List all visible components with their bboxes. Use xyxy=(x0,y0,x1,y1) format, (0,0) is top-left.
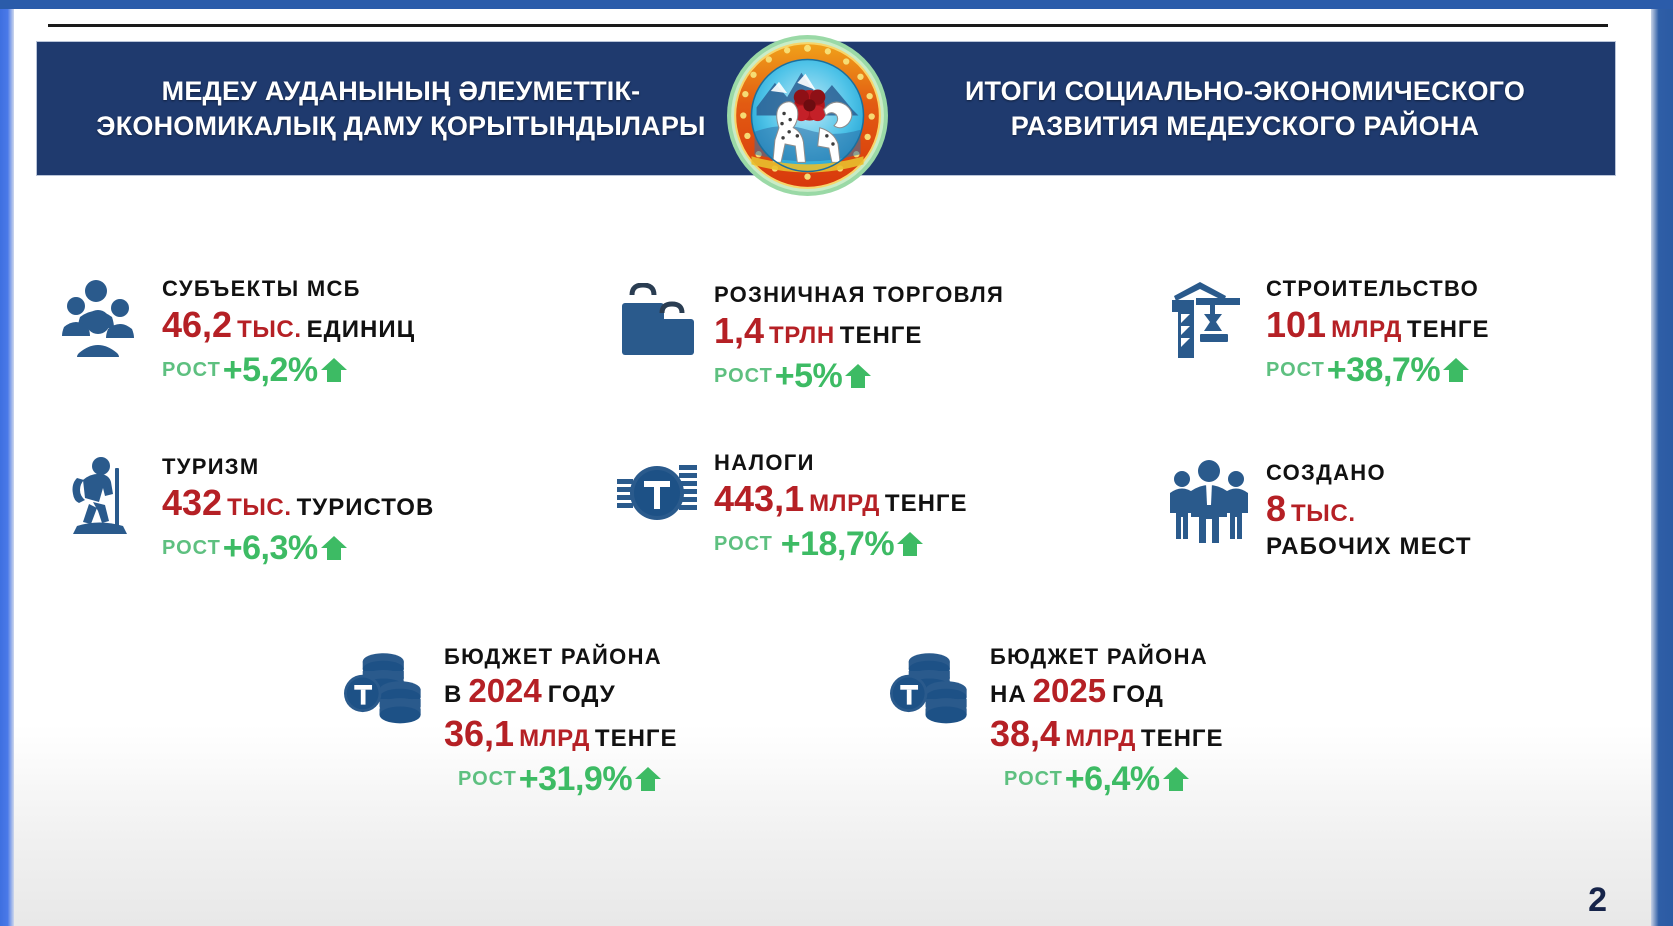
stat-body: ТУРИЗМ 432ТЫС.ТУРИСТОВ РОСТ+6,3% xyxy=(162,452,434,568)
growth-value: +6,3% xyxy=(223,529,318,568)
budget-year-line: НА2025ГОД xyxy=(990,673,1224,710)
stat-tail: ТЕНГЕ xyxy=(1141,725,1224,752)
stat-number: 432 xyxy=(162,482,222,523)
stat-number: 443,1 xyxy=(714,478,804,519)
shopping-bags-icon xyxy=(614,280,700,366)
growth-value: +5,2% xyxy=(223,351,318,390)
stat-number: 8 xyxy=(1266,488,1286,529)
stat-value: 101МЛРДТЕНГЕ xyxy=(1266,305,1490,345)
stat-body: РОЗНИЧНАЯ ТОРГОВЛЯ 1,4ТРЛНТЕНГЕ РОСТ+5% xyxy=(714,280,1004,396)
tenge-coins-icon xyxy=(614,448,700,534)
stat-card-budget-2025: БЮДЖЕТ РАЙОНА НА2025ГОД 38,4МЛРДТЕНГЕ РО… xyxy=(890,642,1224,799)
growth-value: +18,7% xyxy=(781,525,894,564)
stat-unit: МЛРД xyxy=(809,490,880,517)
stat-label: БЮДЖЕТ РАЙОНА xyxy=(444,644,678,669)
stat-body: БЮДЖЕТ РАЙОНА НА2025ГОД 38,4МЛРДТЕНГЕ РО… xyxy=(990,642,1224,799)
stat-card-tourism: ТУРИЗМ 432ТЫС.ТУРИСТОВ РОСТ+6,3% xyxy=(62,452,434,568)
stat-growth: РОСТ+6,3% xyxy=(162,529,434,568)
tenge-coin-stacks-icon xyxy=(344,642,430,728)
stat-value: 443,1МЛРДТЕНГЕ xyxy=(714,479,968,519)
stat-unit: МЛРД xyxy=(1065,725,1136,752)
stat-number: 101 xyxy=(1266,304,1326,345)
stat-number: 38,4 xyxy=(990,713,1060,754)
budget-year: 2024 xyxy=(468,672,541,709)
stat-label: РОЗНИЧНАЯ ТОРГОВЛЯ xyxy=(714,282,1004,307)
header-title-kazakh: МЕДЕУ АУДАНЫНЫҢ ӘЛЕУМЕТТІК- ЭКОНОМИКАЛЫҚ… xyxy=(51,73,751,143)
header-title-russian: ИТОГИ СОЦИАЛЬНО-ЭКОНОМИЧЕСКОГО РАЗВИТИЯ … xyxy=(895,73,1595,143)
growth-value: +38,7% xyxy=(1327,351,1440,390)
stat-value: 38,4МЛРДТЕНГЕ xyxy=(990,714,1224,754)
stat-body: БЮДЖЕТ РАЙОНА В2024ГОДУ 36,1МЛРДТЕНГЕ РО… xyxy=(444,642,678,799)
growth-label: РОСТ xyxy=(1266,359,1325,382)
stat-body: НАЛОГИ 443,1МЛРДТЕНГЕ РОСТ+18,7% xyxy=(714,448,968,564)
stat-label: СУБЪЕКТЫ МСБ xyxy=(162,276,415,301)
stat-tail: ТУРИСТОВ xyxy=(297,494,435,521)
slide-border-left xyxy=(0,9,14,926)
stat-label: ТУРИЗМ xyxy=(162,454,434,479)
stat-card-jobs: СОЗДАНО 8ТЫС. РАБОЧИХ МЕСТ xyxy=(1166,458,1472,561)
stat-card-budget-2024: БЮДЖЕТ РАЙОНА В2024ГОДУ 36,1МЛРДТЕНГЕ РО… xyxy=(344,642,678,799)
workers-group-icon xyxy=(1166,458,1252,544)
stat-label: БЮДЖЕТ РАЙОНА xyxy=(990,644,1224,669)
slide-border-right xyxy=(1651,9,1673,926)
stat-body: СОЗДАНО 8ТЫС. РАБОЧИХ МЕСТ xyxy=(1266,458,1472,561)
budget-year-word: ГОД xyxy=(1112,681,1164,708)
stat-value: 36,1МЛРДТЕНГЕ xyxy=(444,714,678,754)
growth-label: РОСТ xyxy=(162,359,221,382)
stat-label: НАЛОГИ xyxy=(714,450,968,475)
budget-year-word: ГОДУ xyxy=(548,681,616,708)
stat-value: 46,2ТЫС.ЕДИНИЦ xyxy=(162,305,415,345)
arrow-up-icon xyxy=(319,533,349,563)
arrow-up-icon xyxy=(843,361,873,391)
stat-growth: РОСТ+18,7% xyxy=(714,525,968,564)
growth-value: +31,9% xyxy=(519,760,632,799)
arrow-up-icon xyxy=(895,529,925,559)
stat-value: 8ТЫС. xyxy=(1266,489,1472,529)
stat-unit: ТЫС. xyxy=(1291,500,1356,527)
arrow-up-icon xyxy=(1441,355,1471,385)
slide-canvas: МЕДЕУ АУДАНЫНЫҢ ӘЛЕУМЕТТІК- ЭКОНОМИКАЛЫҚ… xyxy=(14,12,1651,926)
budget-year-line: В2024ГОДУ xyxy=(444,673,678,710)
stat-tail: ТЕНГЕ xyxy=(1407,316,1490,343)
stat-value: 432ТЫС.ТУРИСТОВ xyxy=(162,483,434,523)
arrow-up-icon xyxy=(1161,764,1191,794)
growth-label: РОСТ xyxy=(458,768,517,791)
crane-icon xyxy=(1166,274,1252,360)
slide-frame: МЕДЕУ АУДАНЫНЫҢ ӘЛЕУМЕТТІК- ЭКОНОМИКАЛЫҚ… xyxy=(0,0,1673,926)
people-group-icon xyxy=(62,274,148,360)
stat-tail: ТЕНГЕ xyxy=(840,322,923,349)
stat-number: 46,2 xyxy=(162,304,232,345)
arrow-up-icon xyxy=(633,764,663,794)
growth-label: РОСТ xyxy=(714,365,773,388)
stat-growth: РОСТ+38,7% xyxy=(1266,351,1490,390)
stat-number: 36,1 xyxy=(444,713,514,754)
stat-body: СТРОИТЕЛЬСТВО 101МЛРДТЕНГЕ РОСТ+38,7% xyxy=(1266,274,1490,390)
stat-label: СТРОИТЕЛЬСТВО xyxy=(1266,276,1490,301)
stat-unit: ТЫС. xyxy=(227,494,292,521)
stat-body: СУБЪЕКТЫ МСБ 46,2ТЫС.ЕДИНИЦ РОСТ+5,2% xyxy=(162,274,415,390)
stat-growth: РОСТ+5% xyxy=(714,357,1004,396)
stat-growth: РОСТ+31,9% xyxy=(458,760,678,799)
page-number: 2 xyxy=(1588,881,1607,920)
stat-growth: РОСТ+5,2% xyxy=(162,351,415,390)
stat-tail: ЕДИНИЦ xyxy=(307,316,415,343)
stat-value: 1,4ТРЛНТЕНГЕ xyxy=(714,311,1004,351)
stat-unit: ТРЛН xyxy=(769,322,835,349)
growth-label: РОСТ xyxy=(1004,768,1063,791)
growth-value: +5% xyxy=(775,357,843,396)
stat-tail: ТЕНГЕ xyxy=(885,490,968,517)
stat-card-retail: РОЗНИЧНАЯ ТОРГОВЛЯ 1,4ТРЛНТЕНГЕ РОСТ+5% xyxy=(614,280,1004,396)
growth-label: РОСТ xyxy=(714,533,773,556)
stat-growth: РОСТ+6,4% xyxy=(1004,760,1224,799)
budget-year: 2025 xyxy=(1033,672,1106,709)
stat-unit: МЛРД xyxy=(519,725,590,752)
arrow-up-icon xyxy=(319,355,349,385)
stat-number: 1,4 xyxy=(714,310,764,351)
stat-card-taxes: НАЛОГИ 443,1МЛРДТЕНГЕ РОСТ+18,7% xyxy=(614,448,968,564)
stat-unit: МЛРД xyxy=(1331,316,1402,343)
slide-border-top xyxy=(0,0,1673,9)
growth-label: РОСТ xyxy=(162,537,221,560)
stat-label: СОЗДАНО xyxy=(1266,460,1472,485)
almaty-city-emblem-icon xyxy=(726,34,889,197)
stat-card-construction: СТРОИТЕЛЬСТВО 101МЛРДТЕНГЕ РОСТ+38,7% xyxy=(1166,274,1490,390)
growth-value: +6,4% xyxy=(1065,760,1160,799)
tenge-coin-stacks-icon xyxy=(890,642,976,728)
hiker-icon xyxy=(62,452,148,538)
budget-preposition: В xyxy=(444,681,462,708)
stat-card-sme: СУБЪЕКТЫ МСБ 46,2ТЫС.ЕДИНИЦ РОСТ+5,2% xyxy=(62,274,415,390)
stat-unit: ТЫС. xyxy=(237,316,302,343)
stat-second-line: РАБОЧИХ МЕСТ xyxy=(1266,533,1472,561)
budget-preposition: НА xyxy=(990,681,1027,708)
stat-tail: ТЕНГЕ xyxy=(595,725,678,752)
top-hairline-divider xyxy=(48,24,1608,27)
